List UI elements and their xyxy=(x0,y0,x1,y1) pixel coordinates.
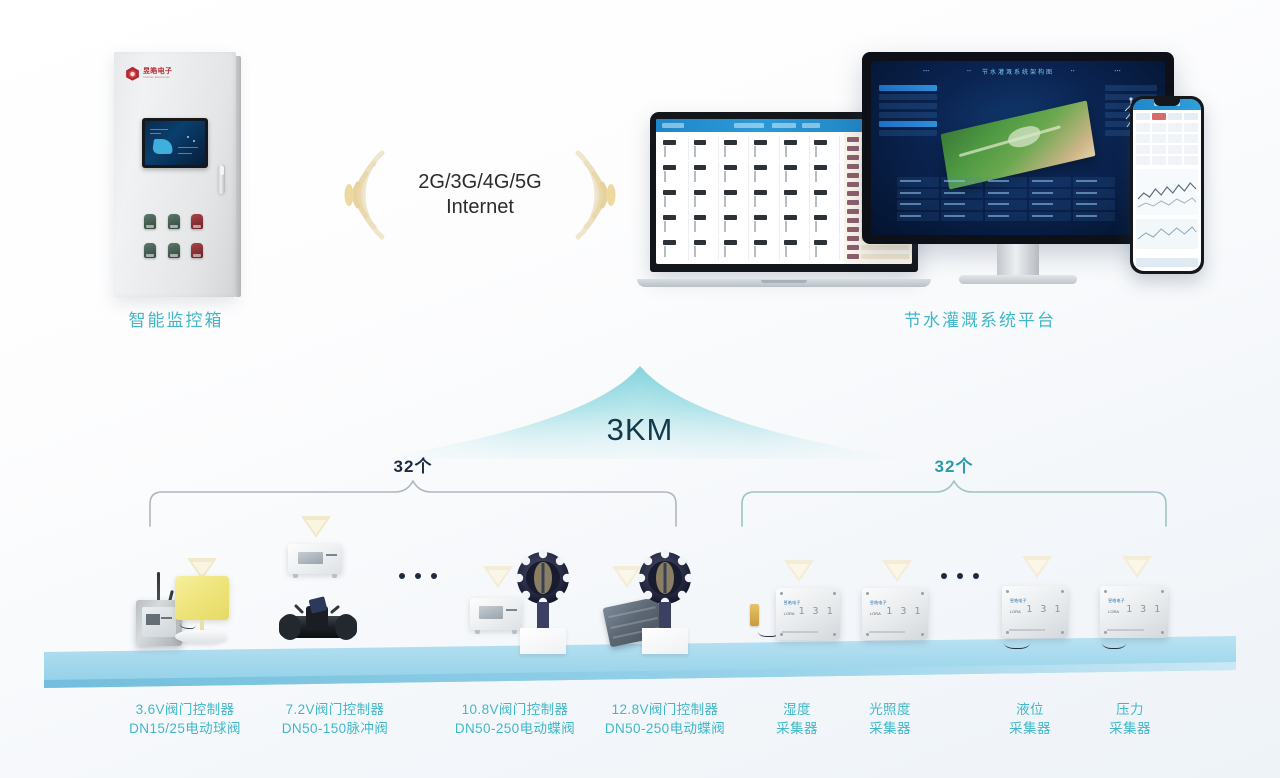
collector-display: 1 3 1 xyxy=(1126,604,1161,615)
network-label-line2: Internet xyxy=(418,195,541,220)
zone-cell xyxy=(750,136,779,160)
label-line2: 采集器 xyxy=(1085,719,1175,738)
collector-model: LORA xyxy=(870,611,881,616)
monitor-nav-item: ▪▪▪ xyxy=(923,68,930,73)
pressure-collector: 昱皓电子 LORA 1 3 1 xyxy=(1094,560,1178,648)
humidity-collector: 昱皓电子 LORA 1 3 1 xyxy=(748,562,844,648)
zone-cell xyxy=(690,211,719,235)
signal-waves-right-icon xyxy=(558,147,628,243)
label-line2: DN50-150脉冲阀 xyxy=(240,719,430,738)
indicator-2[interactable] xyxy=(168,214,180,229)
ball-valve-icon xyxy=(276,596,360,646)
hmi-line-3 xyxy=(178,147,198,148)
monitor-nav-item: ▪▪ xyxy=(1071,68,1075,73)
signal-cone-icon xyxy=(782,556,816,584)
monitor-base xyxy=(959,275,1077,284)
collector-display: 1 3 1 xyxy=(1026,604,1061,615)
label-line1: 光照度 xyxy=(869,702,911,717)
valve-group-brace-icon xyxy=(146,476,680,528)
zone-cell xyxy=(781,211,810,235)
phone-data-table xyxy=(1133,123,1201,165)
ellipsis-right xyxy=(941,573,979,579)
collector-enclosure: 昱皓电子 LORA 1 3 1 xyxy=(776,588,840,640)
field-3d-map xyxy=(941,100,1096,189)
hmi-line-4 xyxy=(178,153,192,154)
monitor-panel-card[interactable] xyxy=(879,85,937,91)
zone-cell xyxy=(660,136,689,160)
monitor-data-table xyxy=(897,177,1115,221)
cabinet-logo-wordmark: 昱皓电子 Chinese Electronics xyxy=(143,68,172,79)
monitor-panel-card[interactable] xyxy=(879,130,937,136)
phone-tab xyxy=(1184,113,1198,120)
indicator-5[interactable] xyxy=(168,243,180,258)
solar-panel xyxy=(175,576,229,620)
zone-cell xyxy=(720,161,749,185)
zone-cell xyxy=(690,136,719,160)
zone-cell xyxy=(660,211,689,235)
sensor-group-count: 32个 xyxy=(935,452,974,477)
diagram-canvas: 昱皓电子 Chinese Electronics 智能 xyxy=(0,0,1280,778)
indicator-6[interactable] xyxy=(191,243,203,258)
label-valve-7-2v: 7.2V阀门控制器 DN50-150脉冲阀 xyxy=(240,700,430,738)
zone-cell xyxy=(660,161,689,185)
zone-cell xyxy=(781,236,810,260)
illuminance-collector: 昱皓电子 LORA 1 3 1 xyxy=(856,562,936,648)
zone-cell xyxy=(811,136,840,160)
monitor-screen[interactable]: 节水灌溉系统架构图 ▪▪▪ ▪▪ ▪▪ ▪▪▪ xyxy=(871,61,1165,235)
hmi-chart-blob xyxy=(152,139,174,154)
signal-cone-icon xyxy=(1020,552,1054,580)
valve-controller-box-1 xyxy=(288,528,344,588)
laptop-zone-grid xyxy=(656,132,844,264)
cabinet-lock-handle-icon[interactable] xyxy=(218,164,225,194)
laptop-trackpad-notch xyxy=(761,280,807,283)
platform-caption: 节水灌溉系统平台 xyxy=(830,306,1130,331)
zone-cell xyxy=(720,236,749,260)
range-label: 3KM xyxy=(607,412,674,448)
cabinet-hmi-display xyxy=(145,121,205,165)
pressure-probe-cable xyxy=(1102,634,1126,649)
zone-cell xyxy=(720,211,749,235)
logo-name-cn: 昱皓电子 xyxy=(143,68,172,75)
mobile-app-dashboard xyxy=(1130,96,1204,274)
zone-cell xyxy=(750,186,779,210)
label-line2: 采集器 xyxy=(845,719,935,738)
network-label: 2G/3G/4G/5G Internet xyxy=(418,170,541,220)
zone-cell xyxy=(811,161,840,185)
coverage-range-indicator: 3KM xyxy=(370,362,910,472)
humidity-probe xyxy=(750,604,759,626)
cabinet-logo: 昱皓电子 Chinese Electronics xyxy=(125,66,172,81)
zone-cell xyxy=(750,236,779,260)
phone-tab xyxy=(1168,113,1182,120)
sensor-collector-group: 32个 xyxy=(738,476,1170,528)
zone-cell xyxy=(811,186,840,210)
cabinet-hmi-screen[interactable] xyxy=(142,118,208,168)
monitor-stand xyxy=(997,244,1039,277)
collector-brand: 昱皓电子 xyxy=(1010,598,1027,604)
signal-cone-icon xyxy=(481,562,515,590)
indicator-1[interactable] xyxy=(144,214,156,229)
collector-model: LORA xyxy=(784,611,795,616)
ellipsis-left xyxy=(399,573,437,579)
monitor-left-panel xyxy=(879,85,937,139)
collector-display: 1 3 1 xyxy=(799,606,834,617)
electric-ball-valve xyxy=(276,596,360,646)
collector-enclosure: 昱皓电子 LORA 1 3 1 xyxy=(1100,586,1168,638)
zone-cell xyxy=(781,186,810,210)
hmi-dot-1 xyxy=(187,136,189,138)
phone-notch xyxy=(1154,99,1180,106)
phone-trend-chart xyxy=(1136,169,1198,215)
label-liquid-level-collector: 液位 采集器 xyxy=(985,700,1075,738)
monitor-panel-card[interactable] xyxy=(879,103,937,109)
monitor-panel-card[interactable] xyxy=(879,112,937,118)
valve-pedestal xyxy=(642,628,688,654)
signal-cone-icon xyxy=(880,556,914,584)
valve-controller-group: 32个 xyxy=(146,476,680,528)
label-humidity-collector: 湿度 采集器 xyxy=(752,700,842,738)
zone-cell xyxy=(690,236,719,260)
label-line1: 湿度 xyxy=(783,702,811,717)
valve-pedestal xyxy=(520,628,566,654)
desktop-monitor-dashboard: 节水灌溉系统架构图 ▪▪▪ ▪▪ ▪▪ ▪▪▪ xyxy=(862,52,1174,292)
controller-enclosure xyxy=(288,544,342,574)
label-pressure-collector: 压力 采集器 xyxy=(1085,700,1175,738)
monitor-nav-item: ▪▪ xyxy=(967,68,971,73)
label-line1: 3.6V阀门控制器 xyxy=(136,702,235,717)
monitor-panel-card[interactable] xyxy=(879,121,937,127)
collector-enclosure: 昱皓电子 LORA 1 3 1 xyxy=(1002,586,1068,638)
label-line2: 采集器 xyxy=(752,719,842,738)
collector-model: LORA xyxy=(1108,609,1119,614)
cabinet-indicator-grid xyxy=(144,214,206,258)
zone-cell xyxy=(750,161,779,185)
phone-screen[interactable] xyxy=(1133,99,1201,271)
signal-cone-icon xyxy=(610,562,644,590)
zone-cell xyxy=(811,211,840,235)
phone-body xyxy=(1130,96,1204,274)
solar-panel-base xyxy=(175,630,227,643)
zone-cell xyxy=(660,186,689,210)
signal-cone-icon xyxy=(1120,552,1154,580)
electric-butterfly-valve-1 xyxy=(512,548,574,648)
electric-butterfly-valve-2 xyxy=(634,548,696,648)
hmi-line-1 xyxy=(150,129,168,130)
network-link: 2G/3G/4G/5G Internet xyxy=(330,140,630,250)
solar-panel-unit xyxy=(171,568,233,650)
collector-model: LORA xyxy=(1010,609,1021,614)
collector-display: 1 3 1 xyxy=(886,606,921,617)
collector-enclosure: 昱皓电子 LORA 1 3 1 xyxy=(862,588,928,640)
monitor-dashboard-title: 节水灌溉系统架构图 xyxy=(982,67,1054,76)
level-probe-cable xyxy=(1004,634,1030,649)
cabinet-caption: 智能监控箱 xyxy=(88,306,264,331)
monitor-nav-item: ▪▪▪ xyxy=(1114,68,1121,73)
zone-cell xyxy=(750,211,779,235)
sensor-group-brace-icon xyxy=(738,476,1170,528)
label-valve-12-8v: 12.8V阀门控制器 DN50-250电动蝶阀 xyxy=(565,700,765,738)
company-logo-mark-icon xyxy=(125,66,140,81)
label-line1: 液位 xyxy=(1016,702,1044,717)
hmi-dot-2 xyxy=(193,140,195,142)
indicator-3[interactable] xyxy=(191,214,203,229)
label-line2: DN50-250电动蝶阀 xyxy=(565,719,765,738)
monitor-panel-card[interactable] xyxy=(1105,85,1157,91)
label-line1: 7.2V阀门控制器 xyxy=(286,702,385,717)
smart-monitoring-cabinet: 昱皓电子 Chinese Electronics xyxy=(114,52,236,297)
monitor-panel-card[interactable] xyxy=(879,94,937,100)
zone-cell xyxy=(781,161,810,185)
zone-cell xyxy=(720,186,749,210)
label-line2: 采集器 xyxy=(985,719,1075,738)
monitor-bezel: 节水灌溉系统架构图 ▪▪▪ ▪▪ ▪▪ ▪▪▪ xyxy=(862,52,1174,244)
liquid-level-collector: 昱皓电子 LORA 1 3 1 xyxy=(996,560,1076,648)
zone-cell xyxy=(690,161,719,185)
label-illuminance-collector: 光照度 采集器 xyxy=(845,700,935,738)
zone-cell xyxy=(690,186,719,210)
hmi-line-2 xyxy=(150,133,161,134)
phone-secondary-chart xyxy=(1136,219,1198,249)
network-label-line1: 2G/3G/4G/5G xyxy=(418,170,541,195)
label-line1: 10.8V阀门控制器 xyxy=(462,702,569,717)
zone-cell xyxy=(781,136,810,160)
valve-group-count: 32个 xyxy=(394,452,433,477)
phone-footer-bar xyxy=(1136,258,1198,267)
zone-cell xyxy=(660,236,689,260)
phone-tab xyxy=(1152,113,1166,120)
signal-cone-icon xyxy=(299,512,333,540)
logo-name-en: Chinese Electronics xyxy=(143,76,172,79)
collector-brand: 昱皓电子 xyxy=(870,600,887,606)
label-line1: 压力 xyxy=(1116,702,1144,717)
zone-cell xyxy=(720,136,749,160)
collector-brand: 昱皓电子 xyxy=(1108,598,1125,604)
phone-tab xyxy=(1136,113,1150,120)
zone-cell xyxy=(811,236,840,260)
signal-waves-left-icon xyxy=(332,147,402,243)
phone-tab-bar[interactable] xyxy=(1133,110,1201,123)
indicator-4[interactable] xyxy=(144,243,156,258)
label-line1: 12.8V阀门控制器 xyxy=(612,702,719,717)
